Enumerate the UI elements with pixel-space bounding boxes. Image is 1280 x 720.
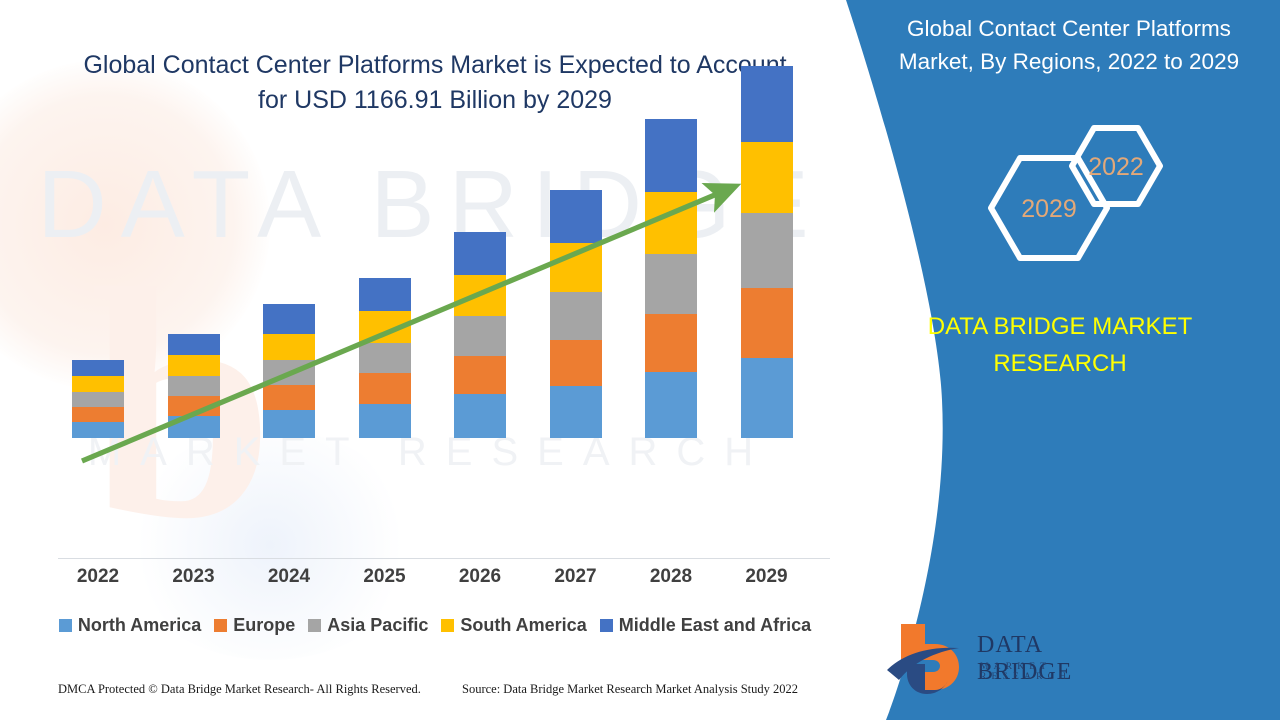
brand-panel: Global Contact Center Platforms Market, … (830, 0, 1280, 720)
logo-tagline: MARKET RESEARCH (980, 662, 1125, 682)
legend-swatch-icon (441, 619, 454, 632)
legend-swatch-icon (214, 619, 227, 632)
legend-item[interactable]: South America (441, 615, 586, 636)
dmca-notice: DMCA Protected © Data Bridge Market Rese… (58, 682, 421, 697)
source-note: Source: Data Bridge Market Research Mark… (462, 682, 798, 697)
chart-legend: North AmericaEuropeAsia PacificSouth Ame… (40, 615, 830, 636)
panel-title-line1: Global Contact Center Platforms (907, 16, 1231, 41)
growth-arrow (0, 0, 860, 600)
legend-swatch-icon (59, 619, 72, 632)
footer: DMCA Protected © Data Bridge Market Rese… (0, 682, 860, 706)
brand-line1: DATA BRIDGE MARKET (928, 313, 1192, 340)
panel-title-line2: Market, By Regions, 2022 to 2029 (899, 49, 1239, 74)
infographic-canvas: b DATA BRIDGE MARKET RESEARCH Global Con… (0, 0, 1280, 720)
legend-swatch-icon (600, 619, 613, 632)
hexagon-2022-label: 2022 (1088, 153, 1144, 181)
legend-item[interactable]: North America (59, 615, 201, 636)
legend-item[interactable]: Middle East and Africa (600, 615, 811, 636)
legend-label: Europe (233, 615, 295, 636)
legend-label: Asia Pacific (327, 615, 428, 636)
legend-label: Middle East and Africa (619, 615, 811, 636)
legend-label: North America (78, 615, 201, 636)
legend-item[interactable]: Asia Pacific (308, 615, 428, 636)
brand-name: DATA BRIDGE MARKET RESEARCH (850, 308, 1270, 382)
year-hexagons: 2029 2022 (960, 120, 1180, 285)
legend-item[interactable]: Europe (214, 615, 295, 636)
company-logo: DATA BRIDGE MARKET RESEARCH (885, 618, 1125, 696)
hexagon-2029-label: 2029 (1021, 195, 1077, 223)
logo-mark-icon (885, 618, 975, 694)
legend-label: South America (460, 615, 586, 636)
stacked-bar-chart: 20222023202420252026202720282029 (0, 0, 860, 600)
brand-line2: RESEARCH (993, 350, 1126, 377)
panel-title: Global Contact Center Platforms Market, … (870, 12, 1268, 78)
legend-swatch-icon (308, 619, 321, 632)
